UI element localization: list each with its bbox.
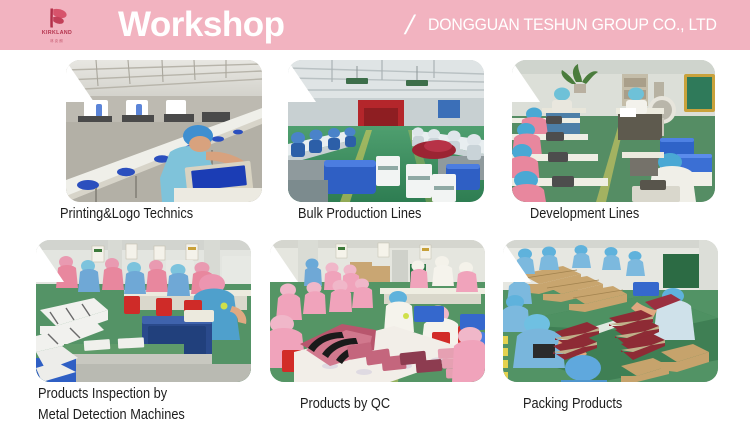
photo-corner-notch	[503, 240, 531, 282]
photo-corner-notch	[36, 240, 64, 282]
caption-line-2: Metal Detection Machines	[38, 407, 185, 423]
company-name: DONGGUAN TESHUN GROUP CO., LTD	[428, 13, 717, 37]
photo-corner-notch	[512, 60, 540, 102]
header-separator-icon: /	[402, 10, 417, 40]
caption-printing-logo-technics: Printing&Logo Technics	[60, 204, 193, 225]
photo-printing-logo-technics	[66, 60, 262, 202]
page-header: KIRKLAND 林克朗 Workshop / DONGGUAN TESHUN …	[0, 0, 750, 50]
logo-wordmark: KIRKLAND	[42, 30, 72, 36]
caption-products-inspection: Products Inspection byMetal Detection Ma…	[38, 384, 258, 426]
caption-bulk-production-lines: Bulk Production Lines	[298, 204, 421, 225]
photo-products-inspection	[36, 240, 251, 382]
caption-products-by-qc: Products by QC	[300, 394, 390, 415]
photo-corner-notch	[270, 240, 298, 282]
caption-development-lines: Development Lines	[530, 204, 639, 225]
page-title: Workshop	[118, 3, 284, 47]
caption-line-1: Products Inspection by	[38, 386, 167, 402]
photo-corner-notch	[66, 60, 94, 102]
photo-bulk-production-lines	[288, 60, 484, 202]
photo-packing-products	[503, 240, 718, 382]
logo-leaf-icon	[44, 7, 70, 29]
photo-development-lines	[512, 60, 715, 202]
photo-products-by-qc	[270, 240, 485, 382]
photo-corner-notch	[288, 60, 316, 102]
caption-packing-products: Packing Products	[523, 394, 622, 415]
logo-sub-characters: 林克朗	[50, 38, 64, 43]
company-logo: KIRKLAND 林克朗	[34, 6, 80, 44]
